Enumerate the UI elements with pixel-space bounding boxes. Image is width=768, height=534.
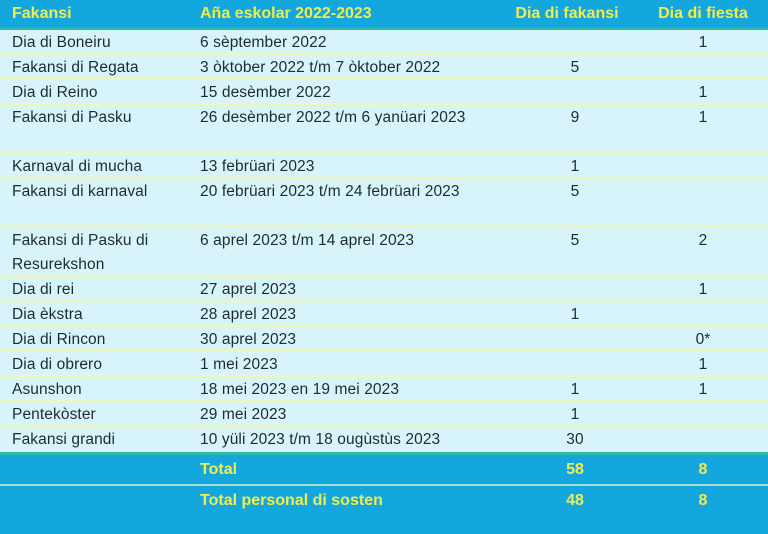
table-row: Fakansi grandi10 yüli 2023 t/m 18 ougùst… — [0, 427, 768, 452]
cell-holiday-name: Fakansi di Pasku di Resurekshon — [12, 229, 192, 277]
cell-period: 29 mei 2023 — [200, 403, 500, 427]
cell-fakansi-days: 1 — [505, 378, 645, 402]
cell-fiesta-days: 1 — [645, 278, 761, 302]
table-row: Dia di obrero1 mei 20231 — [0, 352, 768, 377]
cell-holiday-name: Karnaval di mucha — [12, 155, 192, 179]
cell-holiday-name: Dia di obrero — [12, 353, 192, 377]
table-body: Dia di Boneiru6 sèptember 20221Fakansi d… — [0, 30, 768, 452]
cell-period: 10 yüli 2023 t/m 18 ougùstùs 2023 — [200, 428, 500, 452]
table-row: Karnaval di mucha13 febrüari 20231 — [0, 154, 768, 179]
cell-period: 18 mei 2023 en 19 mei 2023 — [200, 378, 500, 402]
cell-holiday-name: Fakansi grandi — [12, 428, 192, 452]
cell-period: 3 òktober 2022 t/m 7 òktober 2022 — [200, 56, 500, 80]
table-row: Fakansi di Pasku26 desèmber 2022 t/m 6 y… — [0, 105, 768, 154]
table-row: Fakansi di Regata3 òktober 2022 t/m 7 òk… — [0, 55, 768, 80]
cell-fiesta-days: 1 — [645, 353, 761, 377]
table-row-total: Total 58 8 — [0, 455, 768, 486]
table-row: Dia di Rincon30 aprel 20230* — [0, 327, 768, 352]
cell-period: 30 aprel 2023 — [200, 328, 500, 352]
total-fiesta-value: 8 — [645, 459, 761, 481]
cell-fakansi-days: 5 — [505, 180, 645, 204]
cell-period: 1 mei 2023 — [200, 353, 500, 377]
total-personal-fiesta-value: 8 — [645, 490, 761, 512]
cell-holiday-name: Dia di rei — [12, 278, 192, 302]
table-totals: Total 58 8 Total personal di sosten 48 8 — [0, 452, 768, 534]
holiday-table: Fakansi Aña eskolar 2022-2023 Dia di fak… — [0, 0, 768, 527]
cell-fiesta-days: 2 — [645, 229, 761, 253]
total-fakansi-value: 58 — [505, 459, 645, 481]
column-header-school-year: Aña eskolar 2022-2023 — [200, 0, 372, 27]
cell-fakansi-days: 1 — [505, 303, 645, 327]
table-row: Dia di rei27 aprel 20231 — [0, 277, 768, 302]
column-header-dia-di-fiesta: Dia di fiesta — [645, 0, 761, 27]
cell-period: 13 febrüari 2023 — [200, 155, 500, 179]
table-header-row: Fakansi Aña eskolar 2022-2023 Dia di fak… — [0, 0, 768, 30]
cell-fakansi-days: 5 — [505, 56, 645, 80]
cell-holiday-name: Fakansi di karnaval — [12, 180, 192, 204]
cell-holiday-name: Asunshon — [12, 378, 192, 402]
cell-period: 6 aprel 2023 t/m 14 aprel 2023 — [200, 229, 500, 253]
cell-fakansi-days: 1 — [505, 403, 645, 427]
table-row: Dia èkstra28 aprel 20231 — [0, 302, 768, 327]
column-header-fakansi: Fakansi — [12, 0, 72, 27]
cell-fakansi-days: 30 — [505, 428, 645, 452]
total-personal-fakansi-value: 48 — [505, 490, 645, 512]
cell-holiday-name: Pentekòster — [12, 403, 192, 427]
cell-period: 15 desèmber 2022 — [200, 81, 500, 105]
cell-holiday-name: Dia di Boneiru — [12, 31, 192, 55]
total-personal-label: Total personal di sosten — [200, 490, 383, 512]
table-row: Pentekòster29 mei 20231 — [0, 402, 768, 427]
cell-period: 26 desèmber 2022 t/m 6 yanüari 2023 — [200, 106, 500, 130]
cell-fakansi-days: 9 — [505, 106, 645, 130]
table-row: Dia di Reino15 desèmber 20221 — [0, 80, 768, 105]
cell-fakansi-days: 1 — [505, 155, 645, 179]
cell-period: 27 aprel 2023 — [200, 278, 500, 302]
cell-holiday-name: Fakansi di Regata — [12, 56, 192, 80]
table-row: Asunshon18 mei 2023 en 19 mei 202311 — [0, 377, 768, 402]
table-row: Fakansi di Pasku di Resurekshon6 aprel 2… — [0, 228, 768, 277]
table-row: Fakansi di karnaval20 febrüari 2023 t/m … — [0, 179, 768, 228]
cell-holiday-name: Dia di Reino — [12, 81, 192, 105]
cell-period: 20 febrüari 2023 t/m 24 febrüari 2023 — [200, 180, 500, 204]
cell-holiday-name: Dia di Rincon — [12, 328, 192, 352]
cell-period: 28 aprel 2023 — [200, 303, 500, 327]
total-label: Total — [200, 459, 237, 481]
table-row: Dia di Boneiru6 sèptember 20221 — [0, 30, 768, 55]
cell-fakansi-days: 5 — [505, 229, 645, 253]
cell-fiesta-days: 1 — [645, 81, 761, 105]
cell-holiday-name: Fakansi di Pasku — [12, 106, 192, 130]
cell-fiesta-days: 1 — [645, 106, 761, 130]
column-header-dia-di-fakansi: Dia di fakansi — [505, 0, 629, 27]
cell-fiesta-days: 1 — [645, 378, 761, 402]
cell-fiesta-days: 1 — [645, 31, 761, 55]
footer-spacer — [0, 521, 768, 534]
cell-period: 6 sèptember 2022 — [200, 31, 500, 55]
cell-holiday-name: Dia èkstra — [12, 303, 192, 327]
cell-fiesta-days: 0* — [645, 328, 761, 352]
table-row-total-personal: Total personal di sosten 48 8 — [0, 486, 768, 521]
